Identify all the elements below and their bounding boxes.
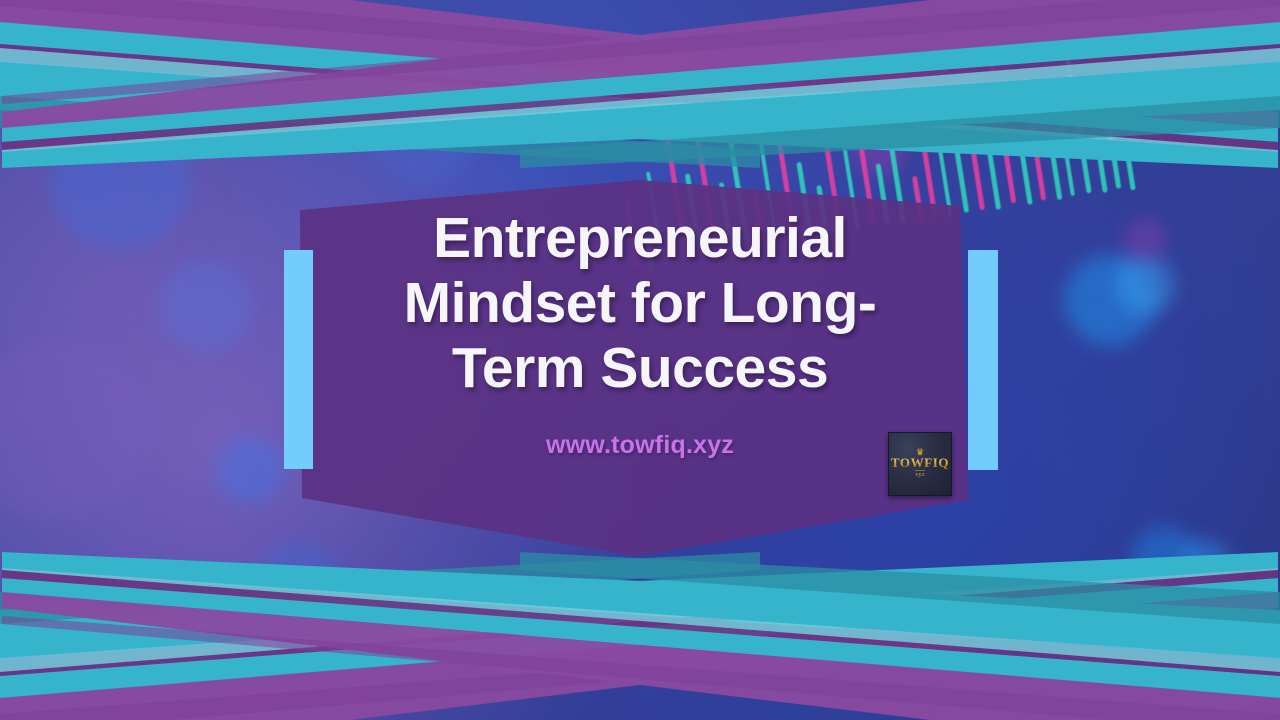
bokeh-light bbox=[105, 490, 245, 630]
bokeh-light bbox=[480, 600, 560, 680]
logo-subtext: xyz bbox=[915, 470, 925, 479]
bokeh-light bbox=[159, 259, 251, 351]
brand-logo[interactable]: ♛ TOWFIQ xyz bbox=[888, 432, 952, 496]
bokeh-light bbox=[1131, 526, 1199, 594]
neon-bar bbox=[971, 152, 985, 210]
neon-dot bbox=[794, 110, 799, 115]
title-line-3: Term Success bbox=[452, 336, 828, 400]
neon-dot bbox=[876, 127, 881, 132]
logo-wordmark: TOWFIQ bbox=[891, 456, 949, 470]
neon-bar bbox=[1094, 137, 1108, 193]
title-line-1: Entrepreneurial bbox=[433, 206, 847, 270]
bokeh-light bbox=[0, 340, 150, 520]
website-url[interactable]: www.towfiq.xyz bbox=[546, 431, 734, 460]
bokeh-light bbox=[1005, 590, 1065, 650]
page-title: Entrepreneurial Mindset for Long- Term S… bbox=[330, 206, 950, 401]
bokeh-light bbox=[670, 570, 730, 630]
neon-bar bbox=[1125, 150, 1136, 190]
neon-dot bbox=[756, 128, 761, 133]
slide-canvas: Entrepreneurial Mindset for Long- Term S… bbox=[0, 0, 1280, 720]
neon-bar bbox=[981, 112, 1001, 210]
neon-bar bbox=[1050, 152, 1062, 200]
bokeh-light bbox=[216, 436, 284, 504]
bokeh-light bbox=[1130, 590, 1210, 670]
neon-bar bbox=[845, 61, 876, 224]
bokeh-light bbox=[35, 580, 155, 700]
bokeh-light bbox=[1179, 539, 1231, 591]
bokeh-light bbox=[370, 75, 480, 185]
bokeh-light bbox=[50, 110, 190, 250]
neon-dot bbox=[901, 79, 906, 84]
badge-content: Entrepreneurial Mindset for Long- Term S… bbox=[330, 206, 950, 526]
title-line-2: Mindset for Long- bbox=[404, 271, 877, 335]
bokeh-light bbox=[256, 541, 344, 629]
neon-bar bbox=[1017, 135, 1033, 205]
neon-dot bbox=[840, 108, 845, 113]
